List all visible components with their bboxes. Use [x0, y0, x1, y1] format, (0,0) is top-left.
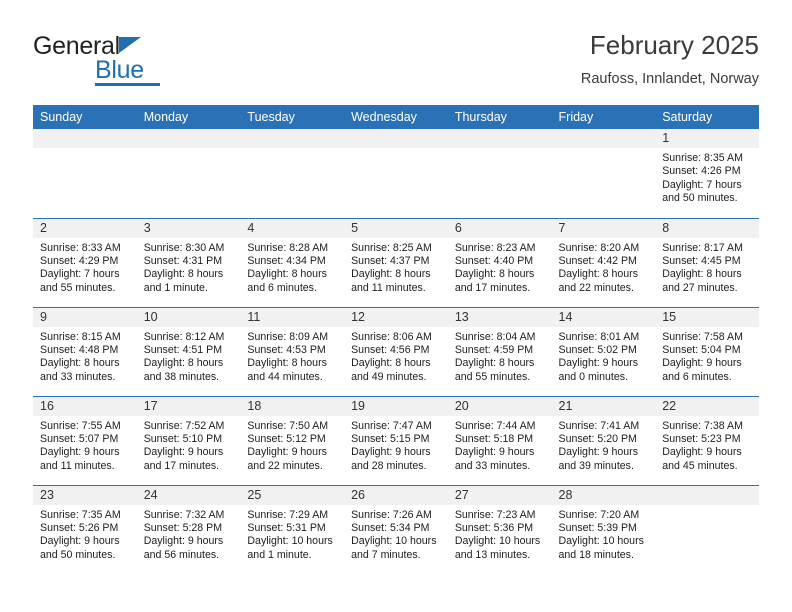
- day-details: Sunrise: 8:15 AM Sunset: 4:48 PM Dayligh…: [33, 327, 137, 385]
- sunrise-text: Sunrise: 8:30 AM: [144, 242, 235, 255]
- calendar-week-row: 1 Sunrise: 8:35 AM Sunset: 4:26 PM Dayli…: [33, 129, 759, 218]
- day-number: 24: [137, 486, 241, 505]
- day-number: 3: [137, 219, 241, 238]
- sunrise-text: Sunrise: 8:12 AM: [144, 331, 235, 344]
- daylight-text-line1: Daylight: 8 hours: [455, 268, 546, 281]
- daylight-text-line2: and 33 minutes.: [40, 371, 131, 384]
- general-blue-logo[interactable]: General Blue: [33, 34, 213, 90]
- blue-triangle-icon: [119, 37, 141, 53]
- day-details: Sunrise: 8:09 AM Sunset: 4:53 PM Dayligh…: [240, 327, 344, 385]
- day-details: Sunrise: 7:29 AM Sunset: 5:31 PM Dayligh…: [240, 505, 344, 563]
- sunrise-text: Sunrise: 7:58 AM: [662, 331, 753, 344]
- day-details: Sunrise: 7:55 AM Sunset: 5:07 PM Dayligh…: [33, 416, 137, 474]
- day-number: 21: [552, 397, 656, 416]
- day-number: [240, 129, 344, 148]
- sunset-text: Sunset: 5:12 PM: [247, 433, 338, 446]
- sunrise-text: Sunrise: 8:28 AM: [247, 242, 338, 255]
- sunset-text: Sunset: 5:39 PM: [559, 522, 650, 535]
- daylight-text-line1: Daylight: 7 hours: [662, 179, 753, 192]
- day-cell[interactable]: 9 Sunrise: 8:15 AM Sunset: 4:48 PM Dayli…: [33, 307, 137, 396]
- sunrise-text: Sunrise: 7:35 AM: [40, 509, 131, 522]
- daylight-text-line2: and 38 minutes.: [144, 371, 235, 384]
- daylight-text-line1: Daylight: 10 hours: [351, 535, 442, 548]
- weekday-header-wednesday: Wednesday: [344, 105, 448, 129]
- sunset-text: Sunset: 5:18 PM: [455, 433, 546, 446]
- daylight-text-line1: Daylight: 9 hours: [144, 446, 235, 459]
- day-details: Sunrise: 7:50 AM Sunset: 5:12 PM Dayligh…: [240, 416, 344, 474]
- day-details: [655, 505, 759, 509]
- sunset-text: Sunset: 4:51 PM: [144, 344, 235, 357]
- daylight-text-line2: and 7 minutes.: [351, 549, 442, 562]
- calendar-week-row: 2 Sunrise: 8:33 AM Sunset: 4:29 PM Dayli…: [33, 218, 759, 307]
- daylight-text-line2: and 44 minutes.: [247, 371, 338, 384]
- sunset-text: Sunset: 5:02 PM: [559, 344, 650, 357]
- daylight-text-line1: Daylight: 9 hours: [40, 535, 131, 548]
- weekday-header-sunday: Sunday: [33, 105, 137, 129]
- sunset-text: Sunset: 5:26 PM: [40, 522, 131, 535]
- day-details: Sunrise: 7:26 AM Sunset: 5:34 PM Dayligh…: [344, 505, 448, 563]
- daylight-text-line1: Daylight: 9 hours: [247, 446, 338, 459]
- day-cell[interactable]: 4 Sunrise: 8:28 AM Sunset: 4:34 PM Dayli…: [240, 218, 344, 307]
- day-number: 27: [448, 486, 552, 505]
- sunrise-text: Sunrise: 7:52 AM: [144, 420, 235, 433]
- sunrise-text: Sunrise: 7:41 AM: [559, 420, 650, 433]
- day-cell[interactable]: 28 Sunrise: 7:20 AM Sunset: 5:39 PM Dayl…: [552, 485, 656, 574]
- daylight-text-line2: and 49 minutes.: [351, 371, 442, 384]
- day-number: 20: [448, 397, 552, 416]
- daylight-text-line1: Daylight: 8 hours: [351, 268, 442, 281]
- daylight-text-line1: Daylight: 7 hours: [40, 268, 131, 281]
- day-cell[interactable]: 12 Sunrise: 8:06 AM Sunset: 4:56 PM Dayl…: [344, 307, 448, 396]
- daylight-text-line2: and 17 minutes.: [144, 460, 235, 473]
- day-details: Sunrise: 8:33 AM Sunset: 4:29 PM Dayligh…: [33, 238, 137, 296]
- weekday-header-thursday: Thursday: [448, 105, 552, 129]
- day-details: Sunrise: 7:47 AM Sunset: 5:15 PM Dayligh…: [344, 416, 448, 474]
- sunset-text: Sunset: 4:56 PM: [351, 344, 442, 357]
- daylight-text-line2: and 18 minutes.: [559, 549, 650, 562]
- day-cell[interactable]: 14 Sunrise: 8:01 AM Sunset: 5:02 PM Dayl…: [552, 307, 656, 396]
- day-details: [33, 148, 137, 152]
- day-number: 18: [240, 397, 344, 416]
- daylight-text-line1: Daylight: 8 hours: [247, 268, 338, 281]
- day-number: [137, 129, 241, 148]
- sunrise-text: Sunrise: 8:23 AM: [455, 242, 546, 255]
- day-number: 2: [33, 219, 137, 238]
- day-cell[interactable]: 25 Sunrise: 7:29 AM Sunset: 5:31 PM Dayl…: [240, 485, 344, 574]
- sunset-text: Sunset: 5:28 PM: [144, 522, 235, 535]
- day-number: 1: [655, 129, 759, 148]
- day-number: 28: [552, 486, 656, 505]
- sunrise-text: Sunrise: 7:47 AM: [351, 420, 442, 433]
- day-details: Sunrise: 8:17 AM Sunset: 4:45 PM Dayligh…: [655, 238, 759, 296]
- day-cell[interactable]: 21 Sunrise: 7:41 AM Sunset: 5:20 PM Dayl…: [552, 396, 656, 485]
- daylight-text-line2: and 11 minutes.: [40, 460, 131, 473]
- day-number: 12: [344, 308, 448, 327]
- sunset-text: Sunset: 5:15 PM: [351, 433, 442, 446]
- calendar-body: 1 Sunrise: 8:35 AM Sunset: 4:26 PM Dayli…: [33, 129, 759, 574]
- daylight-text-line1: Daylight: 9 hours: [144, 535, 235, 548]
- logo-word-blue: Blue: [95, 58, 160, 83]
- day-details: Sunrise: 7:58 AM Sunset: 5:04 PM Dayligh…: [655, 327, 759, 385]
- day-details: Sunrise: 8:30 AM Sunset: 4:31 PM Dayligh…: [137, 238, 241, 296]
- day-details: Sunrise: 7:35 AM Sunset: 5:26 PM Dayligh…: [33, 505, 137, 563]
- daylight-text-line2: and 11 minutes.: [351, 282, 442, 295]
- sunrise-text: Sunrise: 7:32 AM: [144, 509, 235, 522]
- sunrise-text: Sunrise: 8:15 AM: [40, 331, 131, 344]
- sunset-text: Sunset: 4:42 PM: [559, 255, 650, 268]
- day-details: [137, 148, 241, 152]
- day-cell[interactable]: [655, 485, 759, 574]
- day-cell[interactable]: 6 Sunrise: 8:23 AM Sunset: 4:40 PM Dayli…: [448, 218, 552, 307]
- daylight-text-line1: Daylight: 10 hours: [455, 535, 546, 548]
- day-details: Sunrise: 8:25 AM Sunset: 4:37 PM Dayligh…: [344, 238, 448, 296]
- day-number: 7: [552, 219, 656, 238]
- sunrise-text: Sunrise: 7:26 AM: [351, 509, 442, 522]
- weekday-header-monday: Monday: [137, 105, 241, 129]
- daylight-text-line1: Daylight: 8 hours: [455, 357, 546, 370]
- day-details: Sunrise: 8:35 AM Sunset: 4:26 PM Dayligh…: [655, 148, 759, 206]
- sunrise-text: Sunrise: 7:38 AM: [662, 420, 753, 433]
- day-number: 9: [33, 308, 137, 327]
- daylight-text-line2: and 45 minutes.: [662, 460, 753, 473]
- daylight-text-line1: Daylight: 9 hours: [40, 446, 131, 459]
- daylight-text-line1: Daylight: 9 hours: [559, 357, 650, 370]
- sunset-text: Sunset: 4:29 PM: [40, 255, 131, 268]
- day-details: Sunrise: 8:23 AM Sunset: 4:40 PM Dayligh…: [448, 238, 552, 296]
- day-cell[interactable]: 11 Sunrise: 8:09 AM Sunset: 4:53 PM Dayl…: [240, 307, 344, 396]
- day-number: 16: [33, 397, 137, 416]
- day-details: Sunrise: 8:06 AM Sunset: 4:56 PM Dayligh…: [344, 327, 448, 385]
- sunset-text: Sunset: 5:36 PM: [455, 522, 546, 535]
- day-number: 11: [240, 308, 344, 327]
- sunset-text: Sunset: 5:10 PM: [144, 433, 235, 446]
- page-title: February 2025: [581, 30, 759, 60]
- day-cell[interactable]: 27 Sunrise: 7:23 AM Sunset: 5:36 PM Dayl…: [448, 485, 552, 574]
- day-details: Sunrise: 7:38 AM Sunset: 5:23 PM Dayligh…: [655, 416, 759, 474]
- sunrise-text: Sunrise: 8:20 AM: [559, 242, 650, 255]
- daylight-text-line2: and 6 minutes.: [662, 371, 753, 384]
- sunset-text: Sunset: 5:23 PM: [662, 433, 753, 446]
- day-number: 22: [655, 397, 759, 416]
- calendar-grid: Sunday Monday Tuesday Wednesday Thursday…: [33, 105, 759, 574]
- daylight-text-line2: and 1 minute.: [144, 282, 235, 295]
- sunset-text: Sunset: 4:45 PM: [662, 255, 753, 268]
- daylight-text-line2: and 0 minutes.: [559, 371, 650, 384]
- daylight-text-line1: Daylight: 8 hours: [559, 268, 650, 281]
- calendar-week-row: 16 Sunrise: 7:55 AM Sunset: 5:07 PM Dayl…: [33, 396, 759, 485]
- sunrise-text: Sunrise: 8:35 AM: [662, 152, 753, 165]
- daylight-text-line2: and 22 minutes.: [247, 460, 338, 473]
- sunrise-text: Sunrise: 8:33 AM: [40, 242, 131, 255]
- day-cell[interactable]: 8 Sunrise: 8:17 AM Sunset: 4:45 PM Dayli…: [655, 218, 759, 307]
- day-cell[interactable]: [240, 129, 344, 218]
- sunset-text: Sunset: 4:59 PM: [455, 344, 546, 357]
- daylight-text-line1: Daylight: 8 hours: [662, 268, 753, 281]
- sunset-text: Sunset: 5:07 PM: [40, 433, 131, 446]
- day-number: 10: [137, 308, 241, 327]
- day-details: Sunrise: 7:23 AM Sunset: 5:36 PM Dayligh…: [448, 505, 552, 563]
- day-details: Sunrise: 7:52 AM Sunset: 5:10 PM Dayligh…: [137, 416, 241, 474]
- day-cell[interactable]: 26 Sunrise: 7:26 AM Sunset: 5:34 PM Dayl…: [344, 485, 448, 574]
- day-number: 19: [344, 397, 448, 416]
- weekday-header-row: Sunday Monday Tuesday Wednesday Thursday…: [33, 105, 759, 129]
- day-cell[interactable]: [344, 129, 448, 218]
- day-cell[interactable]: 20 Sunrise: 7:44 AM Sunset: 5:18 PM Dayl…: [448, 396, 552, 485]
- day-details: Sunrise: 7:41 AM Sunset: 5:20 PM Dayligh…: [552, 416, 656, 474]
- page-subtitle: Raufoss, Innlandet, Norway: [581, 69, 759, 89]
- sunset-text: Sunset: 4:48 PM: [40, 344, 131, 357]
- sunset-text: Sunset: 5:34 PM: [351, 522, 442, 535]
- day-number: 14: [552, 308, 656, 327]
- sunrise-text: Sunrise: 8:06 AM: [351, 331, 442, 344]
- day-cell[interactable]: 15 Sunrise: 7:58 AM Sunset: 5:04 PM Dayl…: [655, 307, 759, 396]
- day-details: Sunrise: 8:20 AM Sunset: 4:42 PM Dayligh…: [552, 238, 656, 296]
- daylight-text-line1: Daylight: 9 hours: [559, 446, 650, 459]
- day-details: Sunrise: 8:01 AM Sunset: 5:02 PM Dayligh…: [552, 327, 656, 385]
- day-number: 26: [344, 486, 448, 505]
- daylight-text-line1: Daylight: 8 hours: [247, 357, 338, 370]
- day-details: Sunrise: 8:28 AM Sunset: 4:34 PM Dayligh…: [240, 238, 344, 296]
- daylight-text-line2: and 6 minutes.: [247, 282, 338, 295]
- daylight-text-line2: and 55 minutes.: [455, 371, 546, 384]
- day-details: Sunrise: 8:12 AM Sunset: 4:51 PM Dayligh…: [137, 327, 241, 385]
- page-header: General Blue February 2025 Raufoss, Innl…: [33, 30, 759, 96]
- day-cell[interactable]: 17 Sunrise: 7:52 AM Sunset: 5:10 PM Dayl…: [137, 396, 241, 485]
- day-cell[interactable]: [33, 129, 137, 218]
- sunset-text: Sunset: 4:53 PM: [247, 344, 338, 357]
- sunrise-text: Sunrise: 7:23 AM: [455, 509, 546, 522]
- sunrise-text: Sunrise: 8:09 AM: [247, 331, 338, 344]
- sunset-text: Sunset: 4:34 PM: [247, 255, 338, 268]
- daylight-text-line2: and 1 minute.: [247, 549, 338, 562]
- day-cell[interactable]: 2 Sunrise: 8:33 AM Sunset: 4:29 PM Dayli…: [33, 218, 137, 307]
- weekday-header-tuesday: Tuesday: [240, 105, 344, 129]
- day-cell[interactable]: [448, 129, 552, 218]
- day-details: [240, 148, 344, 152]
- sunrise-text: Sunrise: 7:55 AM: [40, 420, 131, 433]
- daylight-text-line2: and 13 minutes.: [455, 549, 546, 562]
- daylight-text-line1: Daylight: 9 hours: [662, 357, 753, 370]
- day-details: [448, 148, 552, 152]
- day-cell[interactable]: 7 Sunrise: 8:20 AM Sunset: 4:42 PM Dayli…: [552, 218, 656, 307]
- day-details: Sunrise: 7:44 AM Sunset: 5:18 PM Dayligh…: [448, 416, 552, 474]
- sunset-text: Sunset: 5:20 PM: [559, 433, 650, 446]
- day-number: 13: [448, 308, 552, 327]
- daylight-text-line2: and 27 minutes.: [662, 282, 753, 295]
- daylight-text-line2: and 22 minutes.: [559, 282, 650, 295]
- day-cell[interactable]: 10 Sunrise: 8:12 AM Sunset: 4:51 PM Dayl…: [137, 307, 241, 396]
- logo-blue-group: Blue: [95, 58, 160, 86]
- sunset-text: Sunset: 4:37 PM: [351, 255, 442, 268]
- day-number: [655, 486, 759, 505]
- daylight-text-line1: Daylight: 8 hours: [40, 357, 131, 370]
- day-details: Sunrise: 7:32 AM Sunset: 5:28 PM Dayligh…: [137, 505, 241, 563]
- day-cell[interactable]: [552, 129, 656, 218]
- day-number: 5: [344, 219, 448, 238]
- day-number: 6: [448, 219, 552, 238]
- sunset-text: Sunset: 5:31 PM: [247, 522, 338, 535]
- daylight-text-line2: and 55 minutes.: [40, 282, 131, 295]
- daylight-text-line1: Daylight: 9 hours: [662, 446, 753, 459]
- day-cell[interactable]: 22 Sunrise: 7:38 AM Sunset: 5:23 PM Dayl…: [655, 396, 759, 485]
- calendar-week-row: 23 Sunrise: 7:35 AM Sunset: 5:26 PM Dayl…: [33, 485, 759, 574]
- day-cell[interactable]: 18 Sunrise: 7:50 AM Sunset: 5:12 PM Dayl…: [240, 396, 344, 485]
- day-details: [344, 148, 448, 152]
- sunset-text: Sunset: 5:04 PM: [662, 344, 753, 357]
- day-cell[interactable]: 19 Sunrise: 7:47 AM Sunset: 5:15 PM Dayl…: [344, 396, 448, 485]
- sunrise-text: Sunrise: 7:29 AM: [247, 509, 338, 522]
- daylight-text-line2: and 56 minutes.: [144, 549, 235, 562]
- calendar-page: General Blue February 2025 Raufoss, Innl…: [0, 0, 792, 612]
- daylight-text-line2: and 39 minutes.: [559, 460, 650, 473]
- daylight-text-line1: Daylight: 8 hours: [351, 357, 442, 370]
- sunrise-text: Sunrise: 8:01 AM: [559, 331, 650, 344]
- day-cell[interactable]: 16 Sunrise: 7:55 AM Sunset: 5:07 PM Dayl…: [33, 396, 137, 485]
- day-number: [448, 129, 552, 148]
- daylight-text-line1: Daylight: 8 hours: [144, 268, 235, 281]
- day-number: 17: [137, 397, 241, 416]
- weekday-header-friday: Friday: [552, 105, 656, 129]
- daylight-text-line2: and 28 minutes.: [351, 460, 442, 473]
- sunrise-text: Sunrise: 8:04 AM: [455, 331, 546, 344]
- sunrise-text: Sunrise: 7:44 AM: [455, 420, 546, 433]
- sunrise-text: Sunrise: 8:17 AM: [662, 242, 753, 255]
- day-cell[interactable]: 24 Sunrise: 7:32 AM Sunset: 5:28 PM Dayl…: [137, 485, 241, 574]
- day-cell[interactable]: 23 Sunrise: 7:35 AM Sunset: 5:26 PM Dayl…: [33, 485, 137, 574]
- day-details: [552, 148, 656, 152]
- daylight-text-line1: Daylight: 9 hours: [455, 446, 546, 459]
- calendar-week-row: 9 Sunrise: 8:15 AM Sunset: 4:48 PM Dayli…: [33, 307, 759, 396]
- day-number: [344, 129, 448, 148]
- daylight-text-line1: Daylight: 9 hours: [351, 446, 442, 459]
- day-details: Sunrise: 8:04 AM Sunset: 4:59 PM Dayligh…: [448, 327, 552, 385]
- day-cell[interactable]: 1 Sunrise: 8:35 AM Sunset: 4:26 PM Dayli…: [655, 129, 759, 218]
- daylight-text-line2: and 50 minutes.: [40, 549, 131, 562]
- day-cell[interactable]: 5 Sunrise: 8:25 AM Sunset: 4:37 PM Dayli…: [344, 218, 448, 307]
- day-number: 25: [240, 486, 344, 505]
- sunrise-text: Sunrise: 7:20 AM: [559, 509, 650, 522]
- daylight-text-line1: Daylight: 10 hours: [559, 535, 650, 548]
- day-cell[interactable]: 3 Sunrise: 8:30 AM Sunset: 4:31 PM Dayli…: [137, 218, 241, 307]
- day-cell[interactable]: 13 Sunrise: 8:04 AM Sunset: 4:59 PM Dayl…: [448, 307, 552, 396]
- sunrise-text: Sunrise: 7:50 AM: [247, 420, 338, 433]
- daylight-text-line2: and 33 minutes.: [455, 460, 546, 473]
- day-cell[interactable]: [137, 129, 241, 218]
- sunset-text: Sunset: 4:26 PM: [662, 165, 753, 178]
- day-details: Sunrise: 7:20 AM Sunset: 5:39 PM Dayligh…: [552, 505, 656, 563]
- weekday-header-saturday: Saturday: [655, 105, 759, 129]
- daylight-text-line2: and 17 minutes.: [455, 282, 546, 295]
- day-number: 15: [655, 308, 759, 327]
- day-number: 23: [33, 486, 137, 505]
- daylight-text-line2: and 50 minutes.: [662, 192, 753, 205]
- sunrise-text: Sunrise: 8:25 AM: [351, 242, 442, 255]
- day-number: [33, 129, 137, 148]
- daylight-text-line1: Daylight: 10 hours: [247, 535, 338, 548]
- day-number: 8: [655, 219, 759, 238]
- day-number: [552, 129, 656, 148]
- day-number: 4: [240, 219, 344, 238]
- sunset-text: Sunset: 4:40 PM: [455, 255, 546, 268]
- daylight-text-line1: Daylight: 8 hours: [144, 357, 235, 370]
- sunset-text: Sunset: 4:31 PM: [144, 255, 235, 268]
- title-block: February 2025 Raufoss, Innlandet, Norway: [581, 30, 759, 89]
